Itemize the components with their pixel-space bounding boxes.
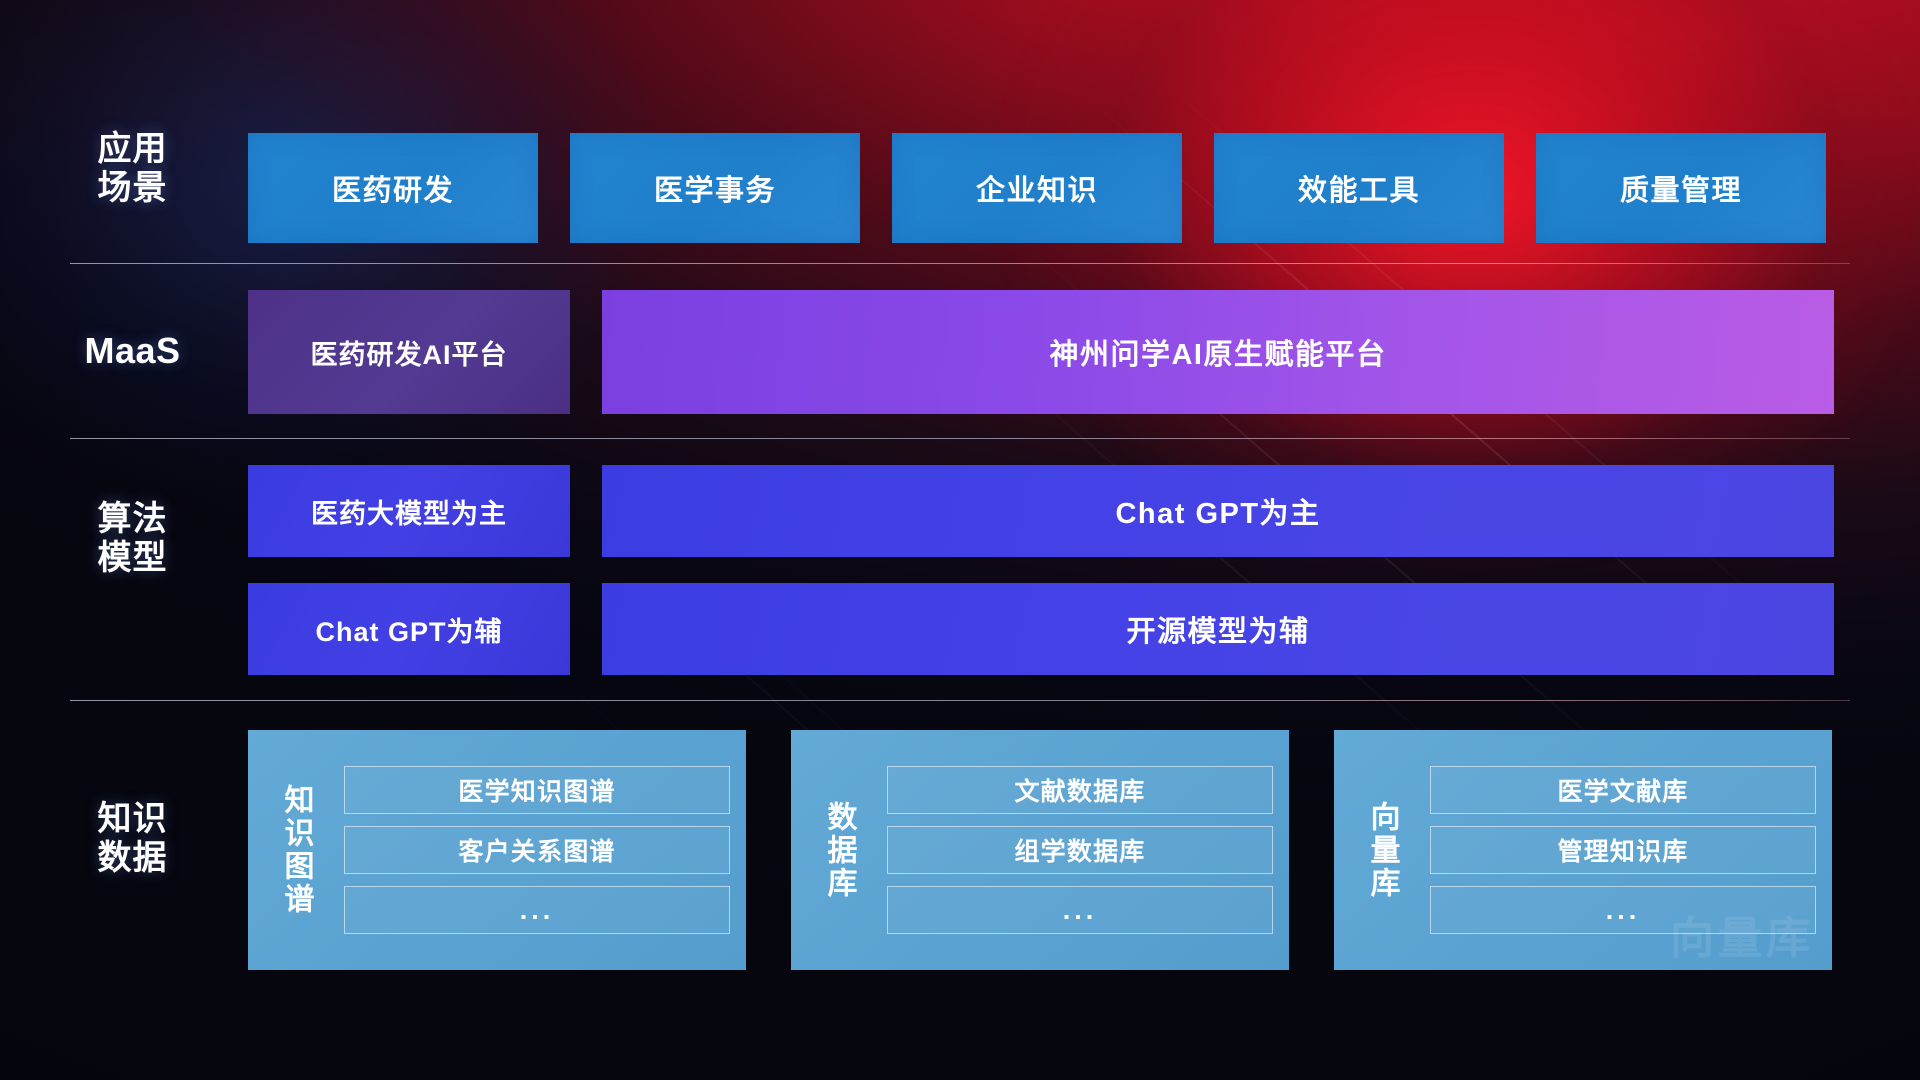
- algo-bar-opensource-secondary[interactable]: 开源模型为辅: [602, 583, 1834, 675]
- knowledge-item[interactable]: 医学文献库: [1430, 766, 1816, 814]
- scene-card-enterprise-knowledge[interactable]: 企业知识: [892, 133, 1182, 243]
- algorithm-model-bars: 医药大模型为主 Chat GPT为主 Chat GPT为辅 开源模型为辅: [248, 465, 1834, 675]
- scene-card-efficiency-tools[interactable]: 效能工具: [1214, 133, 1504, 243]
- slide-canvas: 应用 场景 医药研发 医学事务 企业知识 效能工具 质量管理 MaaS 医药研发…: [0, 0, 1920, 1080]
- knowledge-panel-item-list: 文献数据库 组学数据库 ...: [887, 766, 1273, 934]
- algo-bar-label: 医药大模型为主: [311, 492, 507, 531]
- knowledge-item[interactable]: 组学数据库: [887, 826, 1273, 874]
- scene-card-medical-affairs[interactable]: 医学事务: [570, 133, 860, 243]
- scene-card-label: 质量管理: [1620, 167, 1742, 209]
- algorithm-model-line-primary: 医药大模型为主 Chat GPT为主: [248, 465, 1834, 557]
- knowledge-item-more[interactable]: ...: [887, 886, 1273, 934]
- knowledge-panel-category-label: 知识图谱: [260, 784, 332, 916]
- knowledge-item[interactable]: 医学知识图谱: [344, 766, 730, 814]
- knowledge-panel-category-label: 向量库: [1346, 801, 1418, 900]
- algo-bar-chatgpt-primary[interactable]: Chat GPT为主: [602, 465, 1834, 557]
- row-label-knowledge-data: 知识 数据: [70, 800, 195, 879]
- maas-bar-label: 神州问学AI原生赋能平台: [1049, 331, 1386, 373]
- algo-bar-label: Chat GPT为主: [1115, 490, 1320, 532]
- knowledge-item[interactable]: 管理知识库: [1430, 826, 1816, 874]
- maas-bar-medicine-ai-platform[interactable]: 医药研发AI平台: [248, 290, 570, 414]
- knowledge-panel-database[interactable]: 数据库 文献数据库 组学数据库 ...: [791, 730, 1289, 970]
- scene-card-label: 效能工具: [1298, 167, 1420, 209]
- application-scenario-cards: 医药研发 医学事务 企业知识 效能工具 质量管理: [248, 133, 1826, 243]
- divider-maas-algorithm: [70, 438, 1850, 439]
- scene-card-label: 医学事务: [654, 167, 776, 209]
- scene-card-label: 企业知识: [976, 167, 1098, 209]
- divider-algorithm-knowledge: [70, 700, 1850, 701]
- scene-card-label: 医药研发: [332, 167, 454, 209]
- knowledge-panel-knowledge-graph[interactable]: 知识图谱 医学知识图谱 客户关系图谱 ...: [248, 730, 746, 970]
- algo-bar-chatgpt-secondary[interactable]: Chat GPT为辅: [248, 583, 570, 675]
- knowledge-item[interactable]: 客户关系图谱: [344, 826, 730, 874]
- scene-card-quality-management[interactable]: 质量管理: [1536, 133, 1826, 243]
- algo-bar-medicine-large-model-primary[interactable]: 医药大模型为主: [248, 465, 570, 557]
- algo-bar-label: 开源模型为辅: [1126, 608, 1309, 650]
- diagram-content: 应用 场景 医药研发 医学事务 企业知识 效能工具 质量管理 MaaS 医药研发…: [0, 0, 1920, 1080]
- knowledge-panel-item-list: 医学知识图谱 客户关系图谱 ...: [344, 766, 730, 934]
- knowledge-item-more[interactable]: ...: [344, 886, 730, 934]
- row-label-algorithm-model: 算法 模型: [70, 500, 195, 579]
- algorithm-model-line-secondary: Chat GPT为辅 开源模型为辅: [248, 583, 1834, 675]
- knowledge-data-panels: 知识图谱 医学知识图谱 客户关系图谱 ... 数据库 文献数据库 组学数据库 .…: [248, 730, 1832, 970]
- row-label-application-scenarios: 应用 场景: [70, 130, 195, 209]
- knowledge-panel-category-label: 数据库: [803, 801, 875, 900]
- knowledge-panel-vector-store[interactable]: 向量库 向量库 医学文献库 管理知识库 ...: [1334, 730, 1832, 970]
- algo-bar-label: Chat GPT为辅: [315, 610, 502, 649]
- divider-applications-maas: [70, 263, 1850, 264]
- maas-bars: 医药研发AI平台 神州问学AI原生赋能平台: [248, 290, 1834, 414]
- row-label-maas: MaaS: [70, 330, 195, 372]
- knowledge-item-more[interactable]: ...: [1430, 886, 1816, 934]
- knowledge-panel-item-list: 医学文献库 管理知识库 ...: [1430, 766, 1816, 934]
- maas-bar-label: 医药研发AI平台: [311, 333, 508, 372]
- knowledge-item[interactable]: 文献数据库: [887, 766, 1273, 814]
- maas-bar-shenzhou-wenxue-platform[interactable]: 神州问学AI原生赋能平台: [602, 290, 1834, 414]
- scene-card-medicine-rnd[interactable]: 医药研发: [248, 133, 538, 243]
